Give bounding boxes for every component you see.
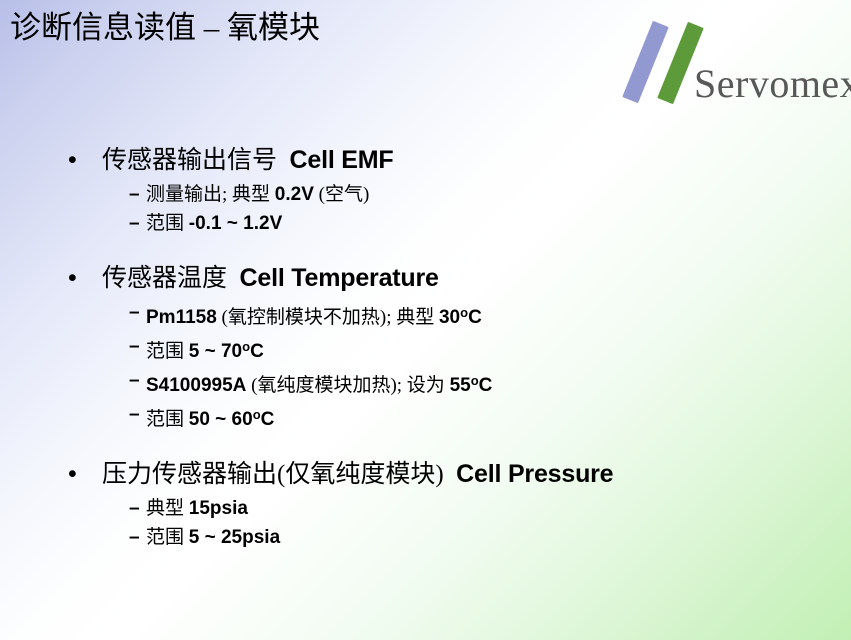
list-item: – 范围 50 ~ 60oC (0, 401, 851, 433)
item-unit: C (479, 375, 493, 396)
bullet-icon: • (68, 260, 77, 296)
item-value: 30 (439, 307, 460, 328)
servomex-logo: Servomex (628, 24, 851, 112)
heading-english: Cell Pressure (456, 460, 613, 488)
item-text-cn: 测量输出; 典型 (146, 184, 275, 205)
item-value: 15psia (189, 498, 248, 519)
section-cell-emf: • 传感器输出信号 Cell EMF – 测量输出; 典型 0.2V (空气) … (0, 142, 851, 237)
item-text-cn-tail: (空气) (314, 184, 369, 205)
item-value: -0.1 ~ 1.2V (189, 213, 282, 234)
item-text-cn: (氧控制模块不加热); 典型 (217, 307, 439, 328)
item-text-cn: 范围 (146, 409, 189, 430)
heading-english: Cell Temperature (240, 264, 439, 292)
item-unit: C (468, 307, 482, 328)
bullet-icon: • (68, 456, 77, 492)
page-title: 诊断信息读值 – 氧模块 (10, 9, 320, 47)
item-part-number: Pm1158 (146, 307, 217, 328)
item-text-cn: 范围 (146, 341, 189, 362)
heading-chinese: 压力传感器输出(仅氧纯度模块) (102, 461, 444, 488)
item-text-cn: 典型 (146, 498, 189, 519)
heading-english: Cell EMF (290, 146, 394, 174)
dash-icon: – (129, 181, 140, 208)
item-value: 50 ~ 60 (189, 409, 253, 430)
dash-icon: – (129, 299, 140, 326)
list-item: – 典型 15psia (0, 495, 851, 522)
degree-symbol: o (242, 339, 250, 354)
slide-body: • 传感器输出信号 Cell EMF – 测量输出; 典型 0.2V (空气) … (0, 142, 851, 551)
heading-chinese: 传感器温度 (102, 265, 227, 292)
list-item: – S4100995A (氧纯度模块加热); 设为 55oC (0, 367, 851, 399)
item-unit: C (250, 341, 264, 362)
presentation-slide: 诊断信息读值 – 氧模块 Servomex • 传感器输出信号 Cell EMF… (0, 0, 851, 640)
item-text-cn: 范围 (146, 213, 189, 234)
item-unit: C (261, 409, 275, 430)
dash-icon: – (129, 367, 140, 394)
section-heading: • 传感器输出信号 Cell EMF (0, 142, 851, 179)
bullet-icon: • (68, 142, 77, 178)
list-item: – 范围 5 ~ 70oC (0, 333, 851, 365)
item-value: 55 (450, 375, 471, 396)
item-value: 0.2V (275, 184, 314, 205)
degree-symbol: o (253, 407, 261, 422)
logo-wordmark: Servomex (694, 62, 851, 106)
item-text-cn: 范围 (146, 527, 189, 548)
section-cell-pressure: • 压力传感器输出(仅氧纯度模块) Cell Pressure – 典型 15p… (0, 456, 851, 551)
dash-icon: – (129, 401, 140, 428)
dash-icon: – (129, 333, 140, 360)
section-cell-temperature: • 传感器温度 Cell Temperature – Pm1158 (氧控制模块… (0, 260, 851, 433)
list-item: – 范围 5 ~ 25psia (0, 524, 851, 551)
list-item: – 测量输出; 典型 0.2V (空气) (0, 181, 851, 208)
section-heading: • 压力传感器输出(仅氧纯度模块) Cell Pressure (0, 456, 851, 493)
degree-symbol: o (460, 305, 468, 320)
item-part-number: S4100995A (146, 375, 246, 396)
degree-symbol: o (471, 373, 479, 388)
item-value: 5 ~ 70 (189, 341, 242, 362)
list-item: – Pm1158 (氧控制模块不加热); 典型 30oC (0, 299, 851, 331)
dash-icon: – (129, 495, 140, 522)
dash-icon: – (129, 524, 140, 551)
list-item: – 范围 -0.1 ~ 1.2V (0, 210, 851, 237)
heading-chinese: 传感器输出信号 (102, 147, 277, 174)
item-text-cn: (氧纯度模块加热); 设为 (246, 375, 449, 396)
item-value: 5 ~ 25psia (189, 527, 280, 548)
dash-icon: – (129, 210, 140, 237)
section-heading: • 传感器温度 Cell Temperature (0, 260, 851, 297)
